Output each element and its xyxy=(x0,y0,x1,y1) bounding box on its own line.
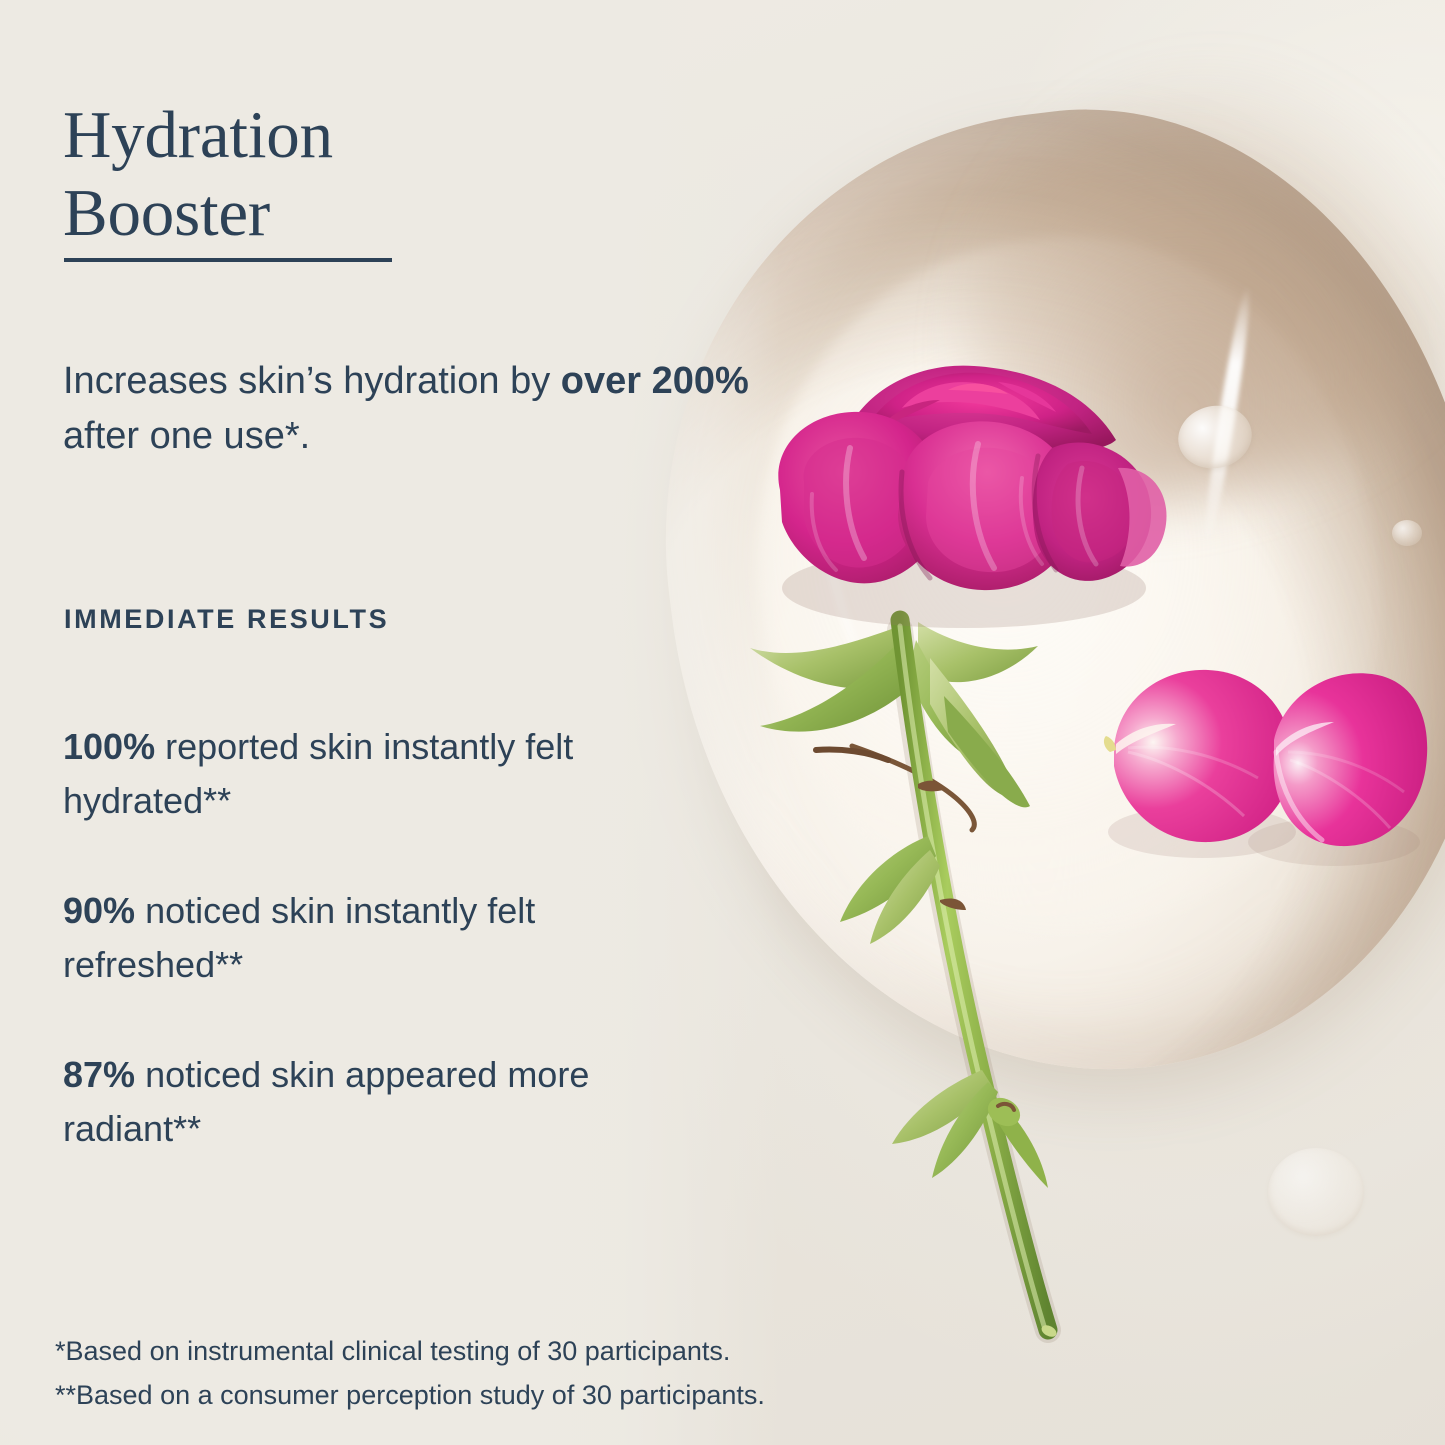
hero-claim-emphasis: over 200% xyxy=(561,360,749,402)
stat-value: 90% xyxy=(63,890,135,931)
stat-value: 87% xyxy=(63,1054,135,1095)
stat-text: noticed skin appeared more radiant** xyxy=(63,1054,589,1149)
section-heading-immediate-results: IMMEDIATE RESULTS xyxy=(64,604,389,635)
title-line-2: Booster xyxy=(63,176,270,250)
title-divider-rule xyxy=(64,258,392,262)
footnote-double-asterisk: **Based on a consumer perception study o… xyxy=(55,1374,765,1418)
stat-item: 100% reported skin instantly felt hydrat… xyxy=(63,720,723,828)
results-stat-list: 100% reported skin instantly felt hydrat… xyxy=(63,684,723,1156)
footnotes: *Based on instrumental clinical testing … xyxy=(55,1330,765,1417)
page-title: HydrationBooster xyxy=(63,97,623,252)
hero-claim: Increases skin’s hydration by over 200% … xyxy=(63,354,763,463)
hero-claim-part-2: after one use*. xyxy=(63,415,310,457)
copy-layer: HydrationBooster Increases skin’s hydrat… xyxy=(0,0,1445,1445)
title-line-1: Hydration xyxy=(63,98,333,172)
product-marketing-poster: HydrationBooster Increases skin’s hydrat… xyxy=(0,0,1445,1445)
hero-claim-part-1: Increases skin’s hydration by xyxy=(63,360,561,402)
stat-item: 87% noticed skin appeared more radiant** xyxy=(63,1048,723,1156)
footnote-single-asterisk: *Based on instrumental clinical testing … xyxy=(55,1330,765,1374)
stat-value: 100% xyxy=(63,726,155,767)
stat-item: 90% noticed skin instantly felt refreshe… xyxy=(63,884,723,992)
